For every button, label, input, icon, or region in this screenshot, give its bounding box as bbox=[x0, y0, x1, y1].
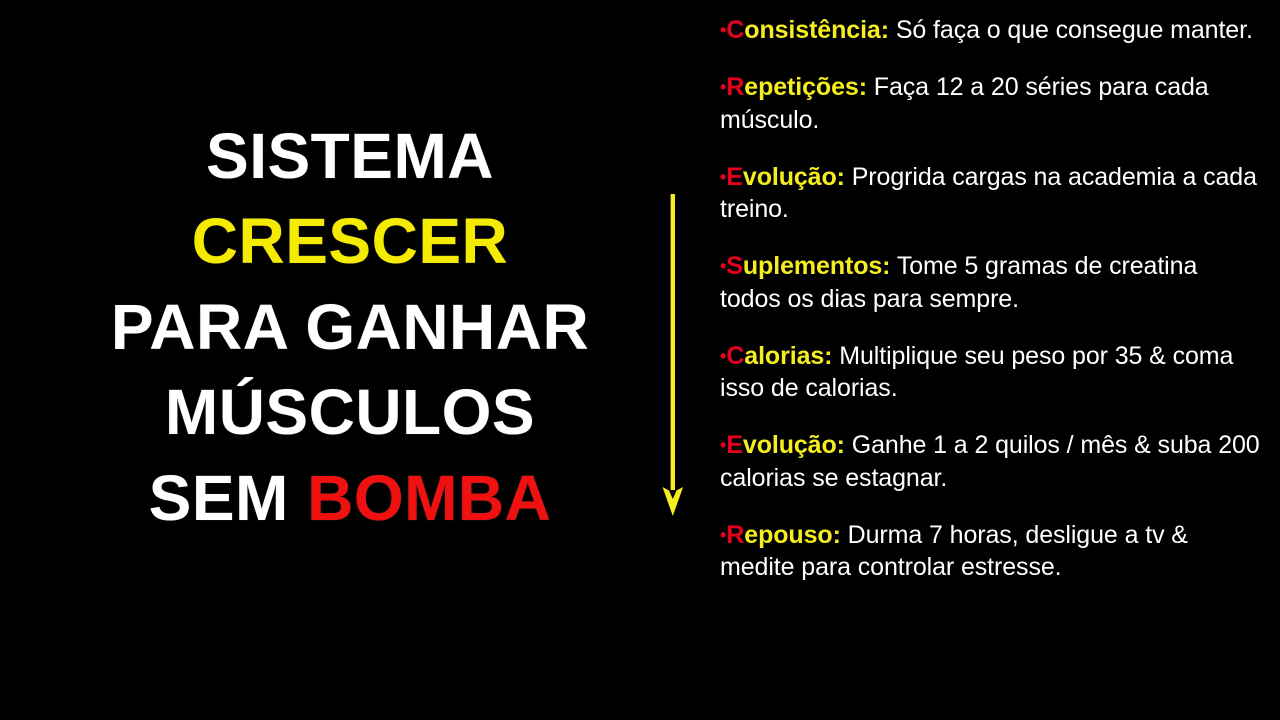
slide-canvas: SISTEMA CRESCER PARA GANHAR MÚSCULOS SEM… bbox=[0, 0, 1280, 720]
bullet-label-initial: S bbox=[726, 252, 743, 280]
bullet-label: onsistência: bbox=[744, 16, 889, 44]
bullet-list: •Consistência: Só faça o que consegue ma… bbox=[720, 14, 1260, 714]
bullet-label-initial: R bbox=[726, 73, 744, 101]
headline-line-1: SISTEMA bbox=[0, 126, 700, 187]
bullet-label-initial: C bbox=[726, 342, 744, 370]
bullet-label-initial: E bbox=[726, 163, 743, 191]
bullet-label: uplementos: bbox=[743, 252, 891, 280]
list-item: •Repouso: Durma 7 horas, desligue a tv &… bbox=[720, 519, 1260, 584]
headline-line-5: SEM BOMBA bbox=[0, 468, 700, 529]
headline-line-2: CRESCER bbox=[0, 211, 700, 272]
list-item: •Calorias: Multiplique seu peso por 35 &… bbox=[720, 340, 1260, 405]
list-item: •Evolução: Ganhe 1 a 2 quilos / mês & su… bbox=[720, 429, 1260, 494]
bullet-label-initial: E bbox=[726, 431, 743, 459]
bullet-label: epetições: bbox=[744, 73, 867, 101]
list-item: •Repetições: Faça 12 a 20 séries para ca… bbox=[720, 71, 1260, 136]
bullet-label-initial: C bbox=[726, 16, 744, 44]
list-item: •Suplementos: Tome 5 gramas de creatina … bbox=[720, 250, 1260, 315]
bullet-label: epouso: bbox=[744, 521, 841, 549]
bullet-label-initial: R bbox=[726, 521, 744, 549]
headline-line-5-white: SEM bbox=[149, 462, 307, 534]
list-item: •Consistência: Só faça o que consegue ma… bbox=[720, 14, 1260, 47]
headline-line-3: PARA GANHAR bbox=[0, 297, 700, 358]
headline-line-5-red: BOMBA bbox=[307, 462, 551, 534]
headline-line-4: MÚSCULOS bbox=[0, 382, 700, 443]
bullet-label: alorias: bbox=[744, 342, 832, 370]
bullet-label: volução: bbox=[743, 163, 845, 191]
bullet-body: Só faça o que consegue manter. bbox=[889, 16, 1253, 44]
bullet-label: volução: bbox=[743, 431, 845, 459]
arrow-down-icon bbox=[655, 194, 691, 520]
headline-block: SISTEMA CRESCER PARA GANHAR MÚSCULOS SEM… bbox=[0, 126, 700, 529]
list-item: •Evolução: Progrida cargas na academia a… bbox=[720, 161, 1260, 226]
